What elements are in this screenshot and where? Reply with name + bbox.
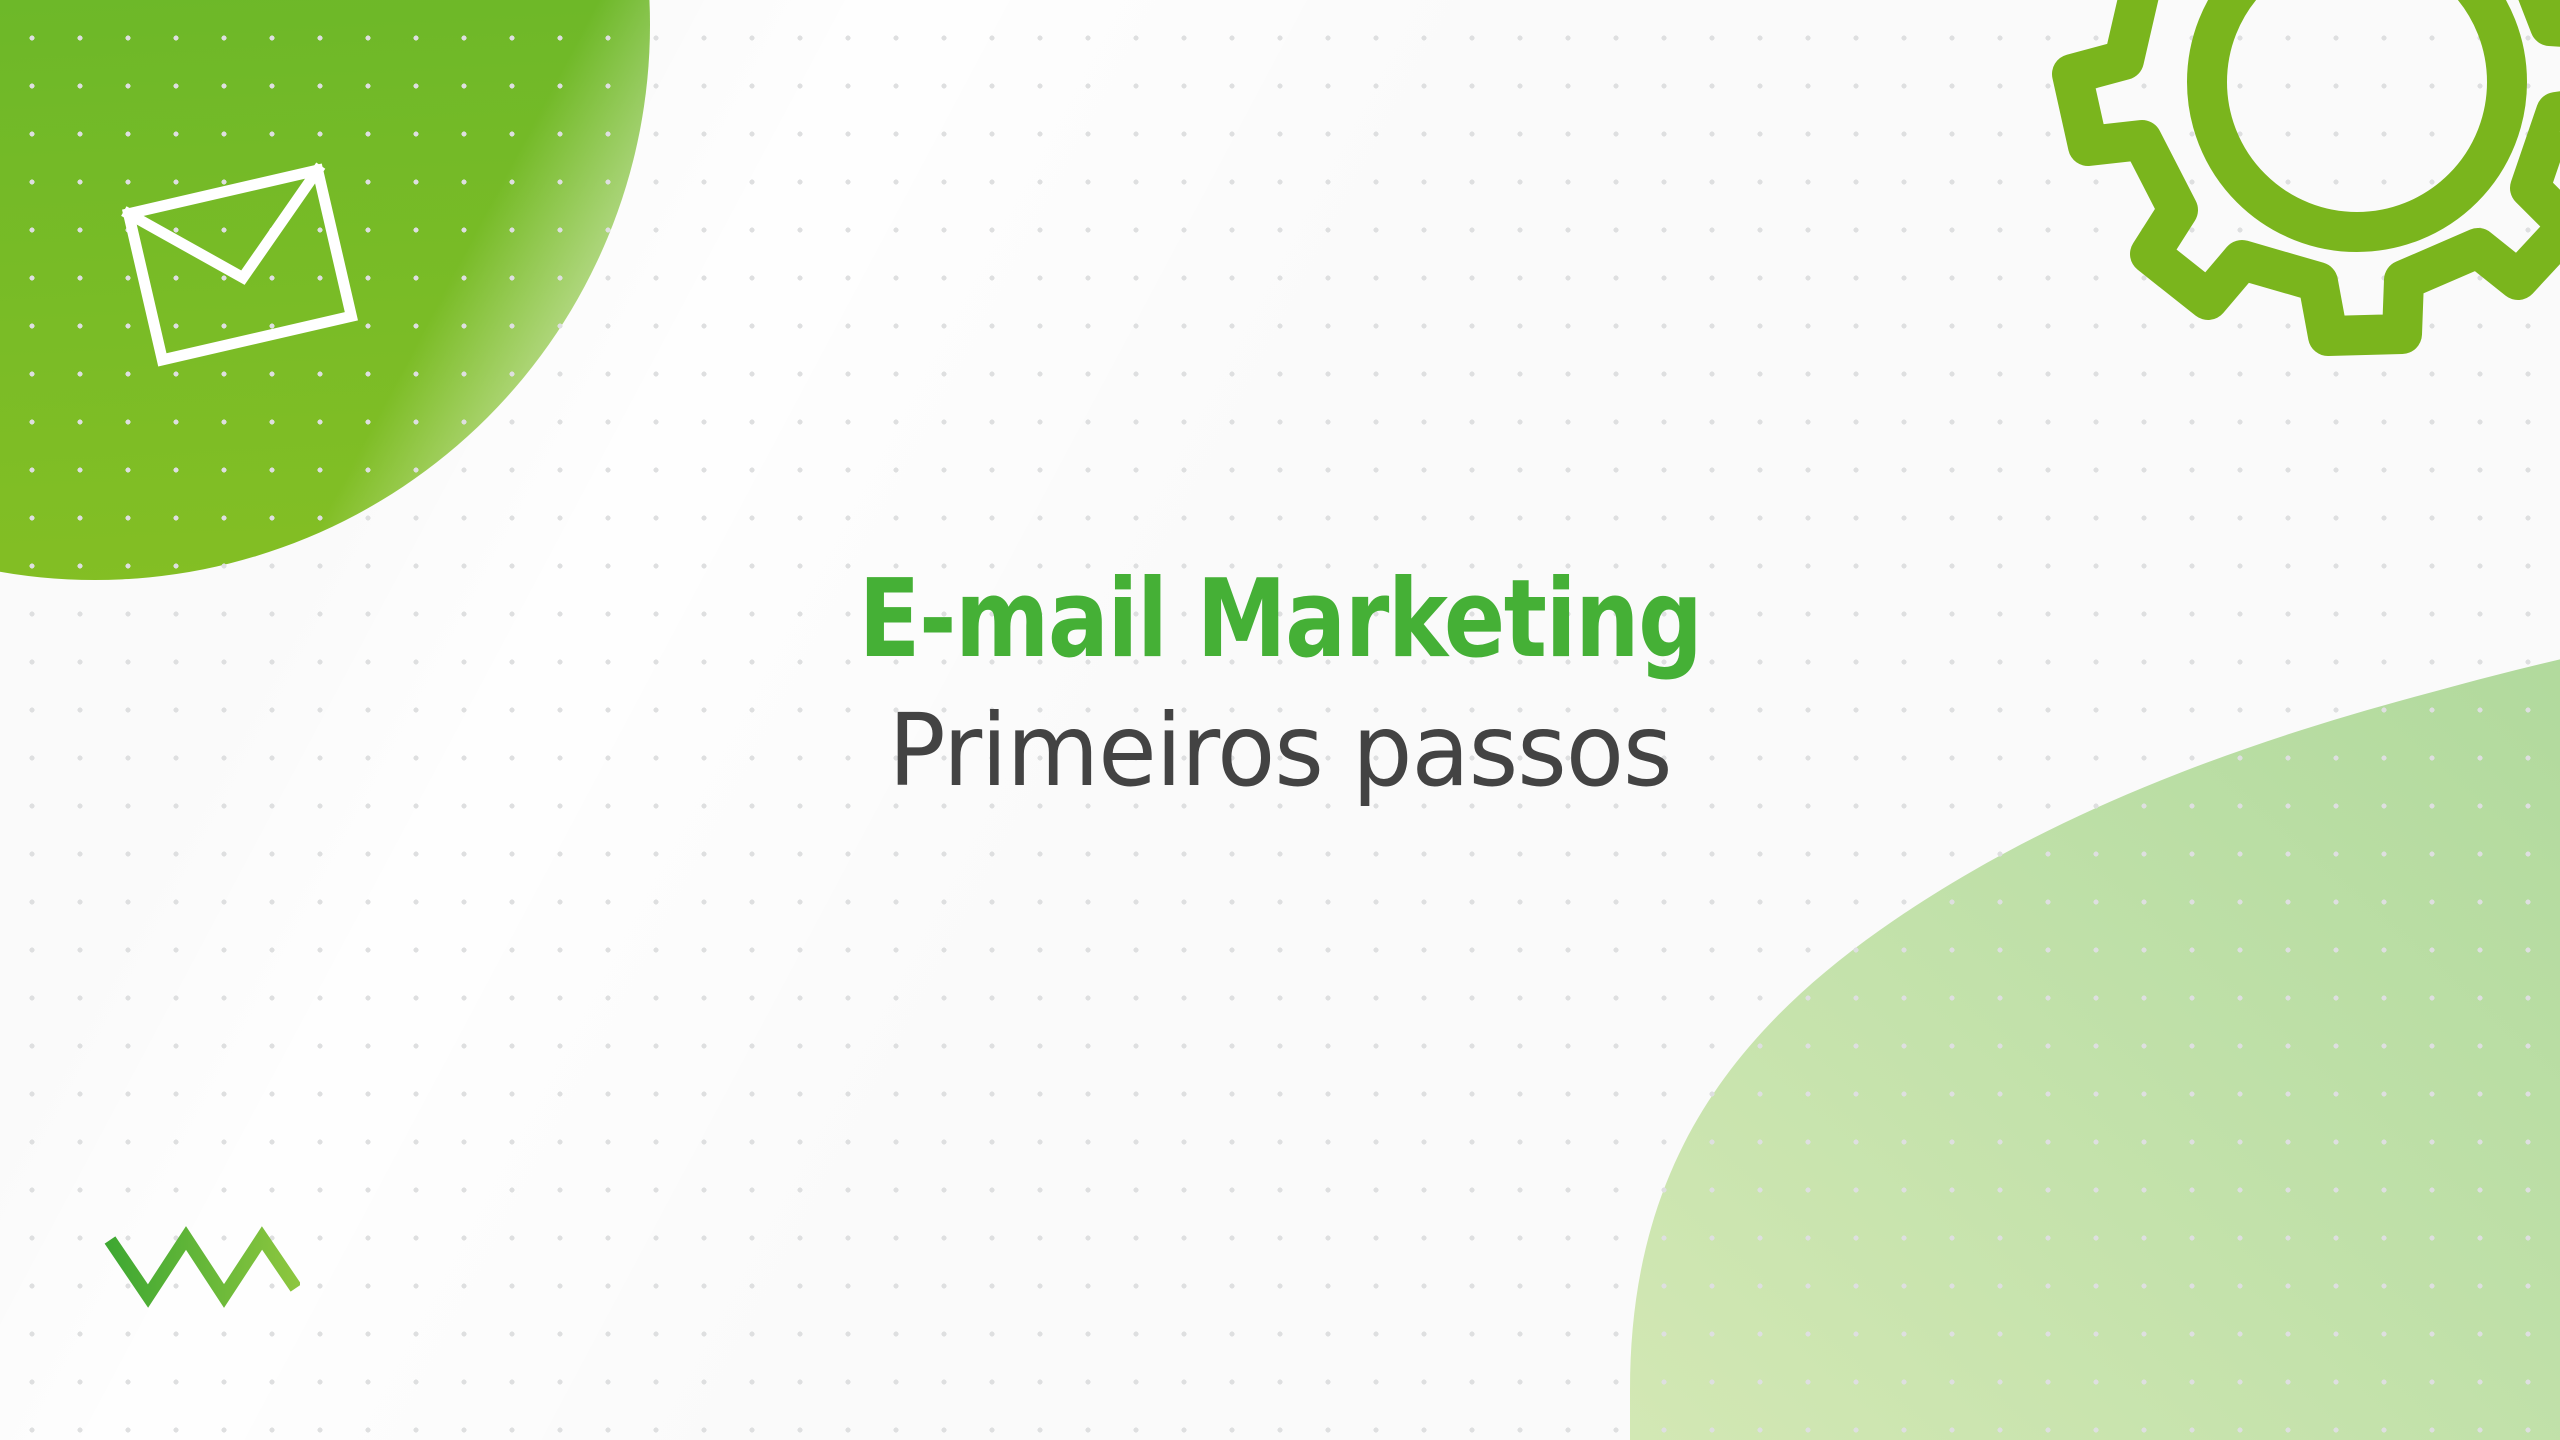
page-subtitle: Primeiros passos [64, 695, 2496, 807]
gear-icon [2052, 0, 2560, 402]
slide-text-block: E-mail Marketing Primeiros passos [0, 560, 2560, 807]
page-title: E-mail Marketing [90, 560, 2471, 681]
zigzag-icon [100, 1224, 300, 1316]
slide-canvas: E-mail Marketing Primeiros passos [0, 0, 2560, 1440]
envelope-icon [105, 130, 375, 400]
